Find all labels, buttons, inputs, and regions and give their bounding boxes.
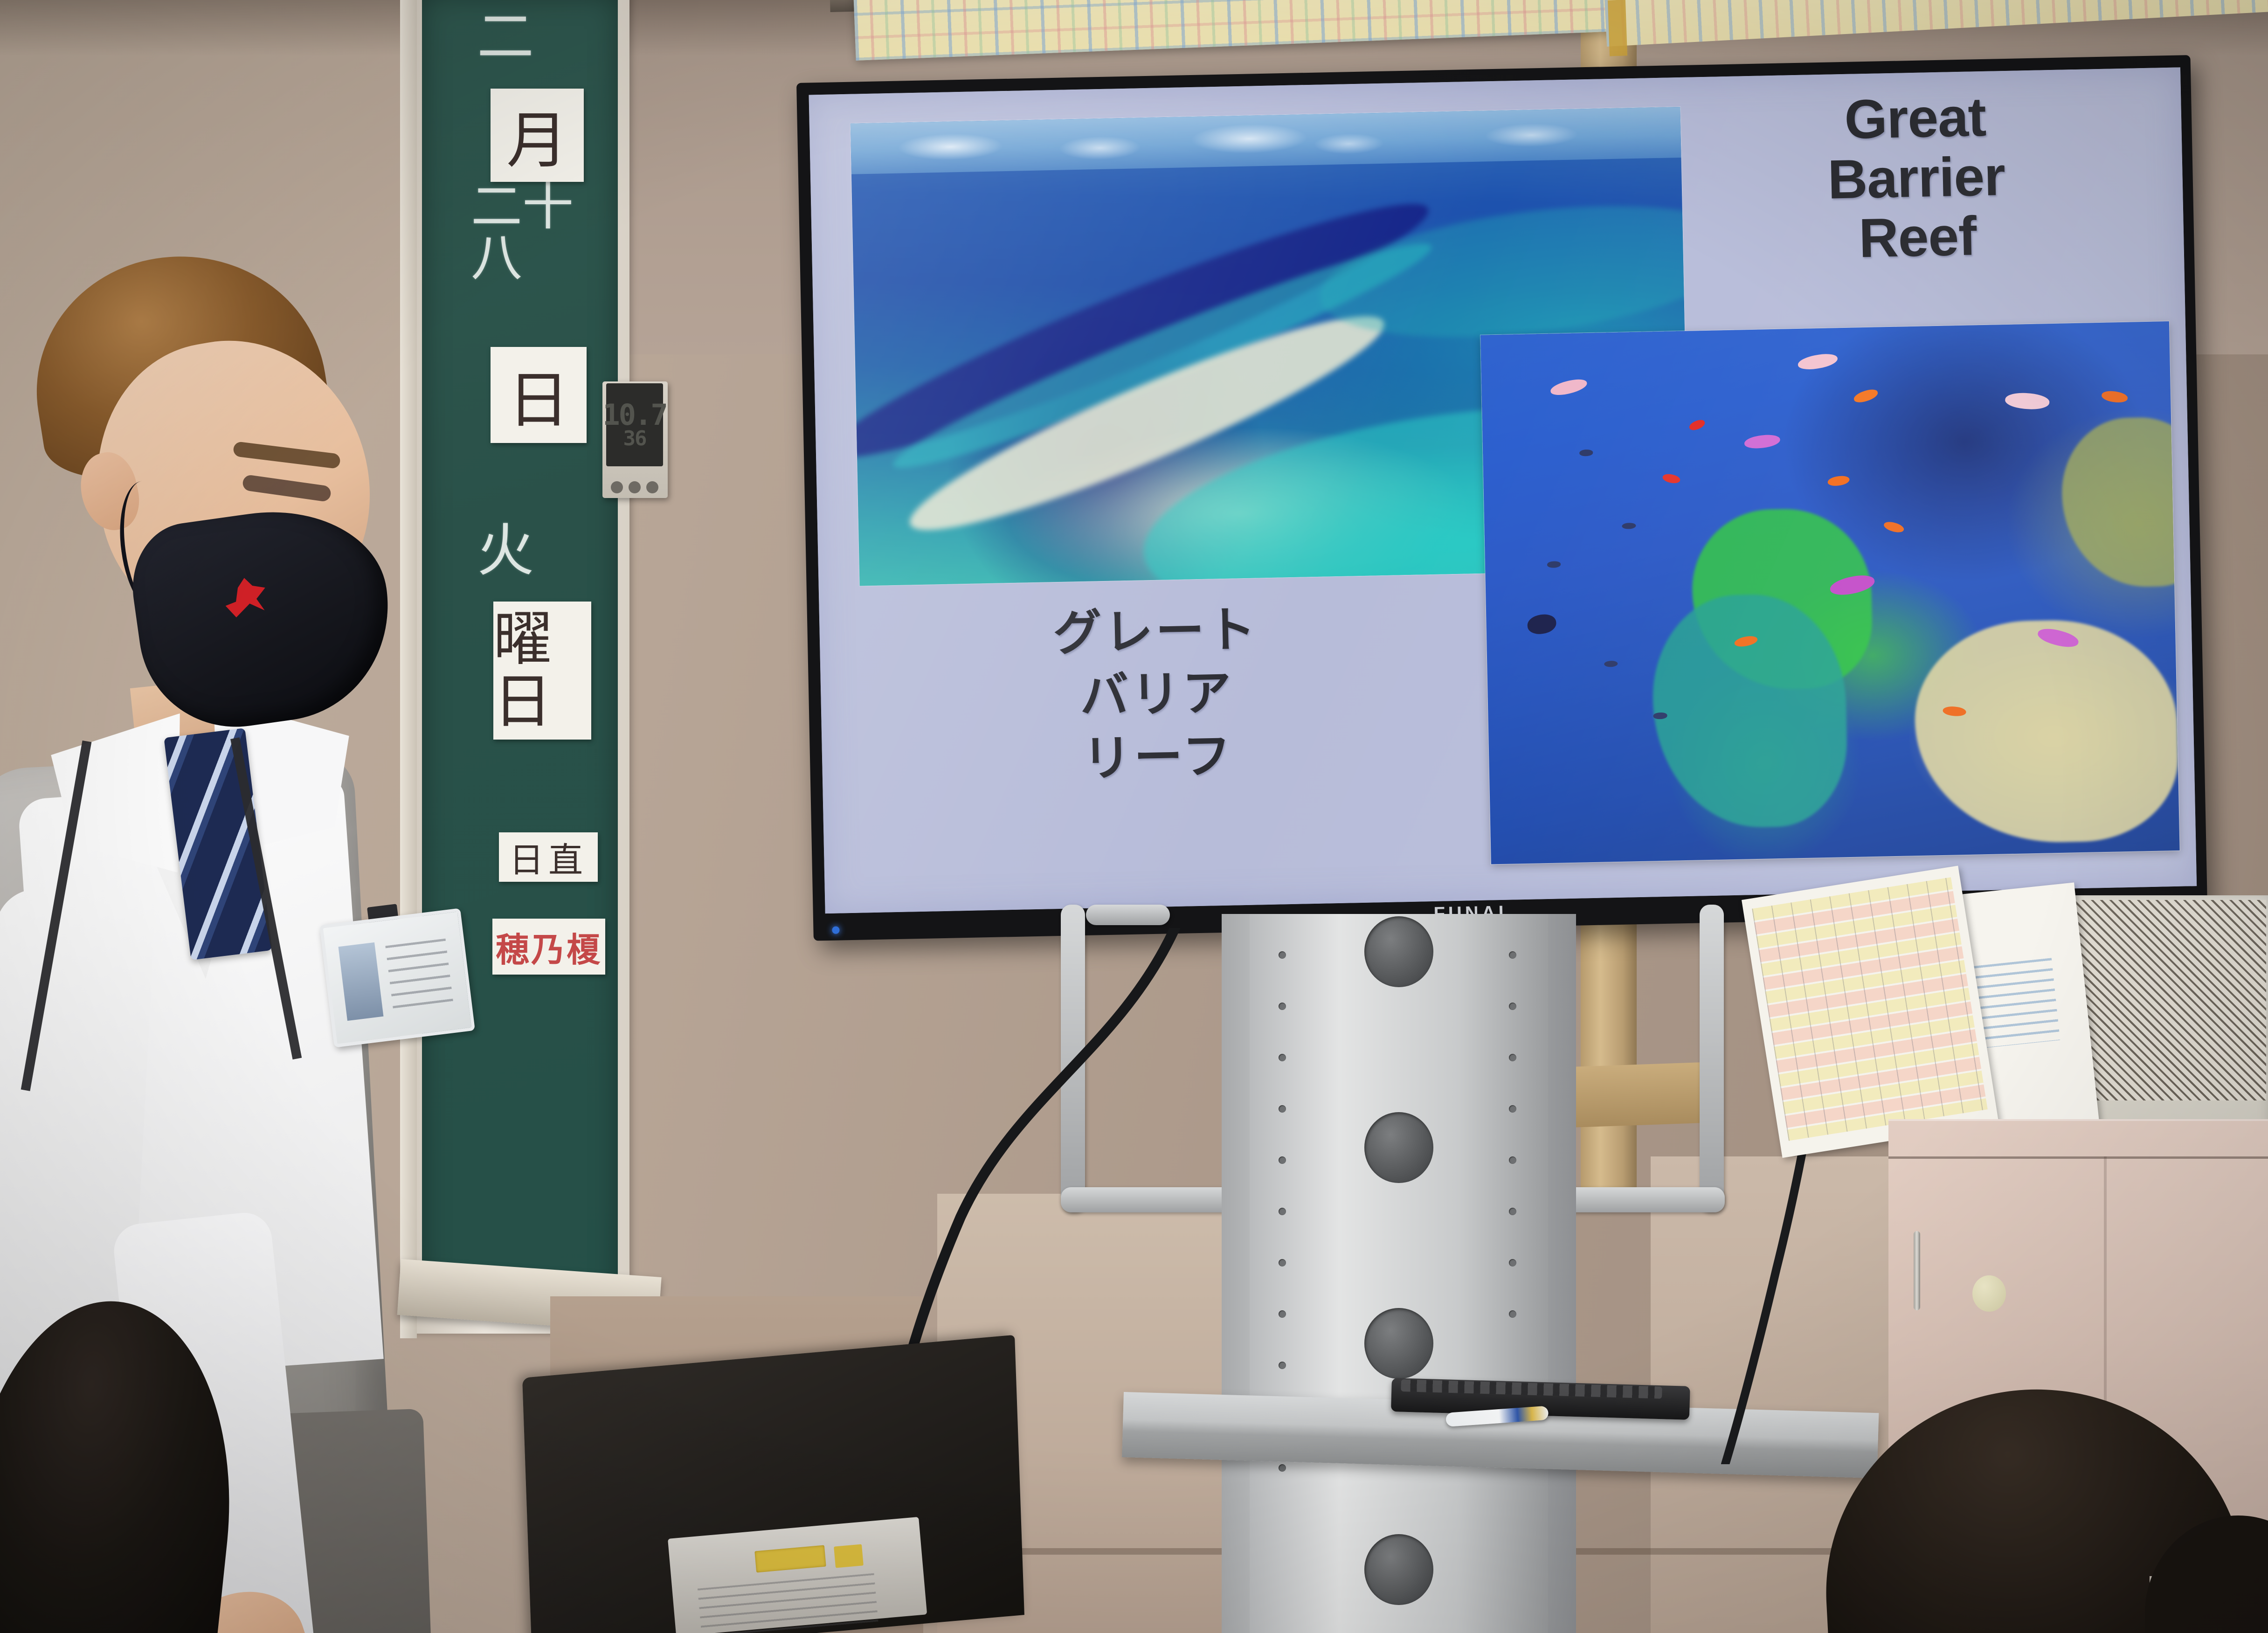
coral-teal-1: [1651, 593, 1848, 829]
paper-grid-columns: [1752, 878, 1988, 1141]
chalk-date-ni: 二: [477, 8, 534, 65]
flat-screen-tv[interactable]: Great Barrier Reef グレート バリア リーフ FUNAI HD…: [796, 55, 2207, 941]
laptop-sticker-2: [834, 1544, 864, 1568]
cabinet-handle[interactable]: [1914, 1231, 1920, 1310]
power-led-icon: [832, 927, 839, 934]
aerial-clouds: [850, 111, 1681, 170]
tv-screen[interactable]: Great Barrier Reef グレート バリア リーフ: [809, 67, 2197, 913]
fish-small-school-e: [1653, 713, 1667, 719]
thermometer-button-min[interactable]: [629, 481, 641, 493]
coral-tan-boulder: [1913, 618, 2179, 845]
yellow-pole: [1608, 0, 1627, 56]
classroom-presentation-scene: 二 二十八 火 月 日 曜日 日直 穂乃榎 10.7 36: [0, 0, 2268, 1633]
fish-dark-1: [1527, 613, 1558, 635]
cart-slot-1: [1364, 916, 1433, 987]
fish-pink-2: [1797, 352, 1839, 372]
fish-red-2: [1662, 472, 1681, 484]
cabinet-knob[interactable]: [1972, 1275, 2006, 1312]
slide-jp-line-3: リーフ: [925, 721, 1392, 794]
cart-hole-b2: [1509, 1003, 1516, 1010]
cart-hole-b3: [1509, 1054, 1516, 1061]
cabinet-top-seam: [1888, 1156, 2268, 1159]
duty-card-name: 穂乃榎: [492, 919, 605, 975]
fish-red-1: [1688, 418, 1707, 432]
slide-jp-line-2: バリア: [923, 658, 1391, 730]
date-card-day: 日: [491, 347, 587, 443]
cart-slot-4: [1364, 1534, 1433, 1605]
slide-title-line-1: Great: [1681, 84, 2149, 153]
slide-title: Great Barrier Reef: [1681, 84, 2151, 272]
slide-title-line-2: Barrier: [1683, 144, 2150, 212]
badge-text-lines: [385, 939, 454, 1016]
thermometer-button-set[interactable]: [611, 481, 623, 493]
thermometer-button-max[interactable]: [646, 481, 658, 493]
fish-orange-4: [1883, 520, 1905, 534]
fish-orange-1: [1853, 387, 1879, 404]
slide-jp-line-1: グレート: [922, 595, 1390, 667]
fish-pink-3: [2005, 391, 2050, 411]
cart-hole-b4: [1509, 1105, 1516, 1113]
slide-subtitle-japanese: グレート バリア リーフ: [922, 595, 1392, 794]
cart-hole-b5: [1509, 1156, 1516, 1164]
fish-orange-2: [2101, 389, 2129, 404]
humidity-value: 36: [623, 429, 646, 449]
slide-title-line-3: Reef: [1684, 203, 2151, 272]
fish-small-school-b: [1622, 523, 1636, 529]
fish-pink-1: [1549, 377, 1589, 398]
coral-olive-right: [2061, 416, 2179, 588]
cart-hole-b8: [1509, 1310, 1516, 1318]
cart-slot-2: [1364, 1112, 1433, 1183]
cart-hole-b6: [1509, 1208, 1516, 1215]
cart-hole-b1: [1509, 951, 1516, 959]
paper-grid-chart: [1742, 865, 1999, 1158]
duty-card-label: 日直: [499, 832, 598, 882]
presentation-slide: Great Barrier Reef グレート バリア リーフ: [809, 67, 2197, 913]
fish-magenta-3: [1744, 434, 1781, 450]
fish-small-school-d: [1604, 661, 1618, 667]
temperature-value: 10.7: [602, 401, 666, 429]
date-card-month: 月: [491, 89, 584, 182]
fish-small-school-c: [1547, 561, 1561, 567]
date-card-weekday: 曜日: [493, 602, 591, 740]
slide-image-underwater-reef: [1480, 321, 2179, 864]
cart-slot-3: [1364, 1308, 1433, 1379]
fish-small-school-a: [1579, 450, 1593, 456]
cart-hole-b7: [1509, 1259, 1516, 1266]
thermometer-lcd-display: 10.7 36: [606, 383, 663, 466]
cart-arm-left-hook: [1086, 905, 1170, 925]
fish-orange-3: [1827, 475, 1850, 487]
